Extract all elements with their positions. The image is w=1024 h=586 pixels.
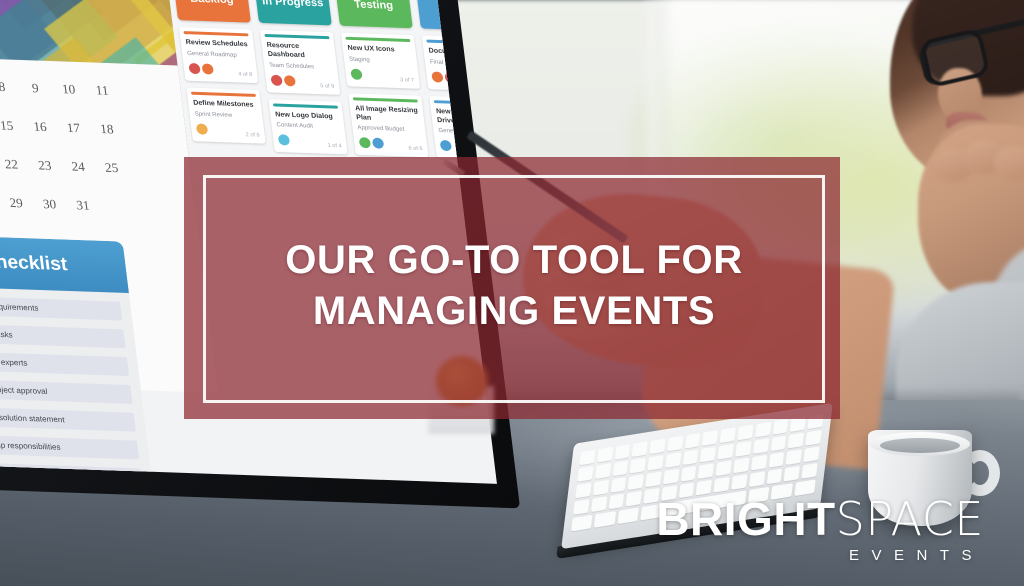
keyboard-key[interactable] (718, 444, 734, 460)
kanban-card-progress: 3 of 7 (400, 77, 415, 83)
calendar-day-cell[interactable]: 10 (53, 78, 84, 101)
keyboard-key[interactable] (593, 480, 609, 496)
kanban-card-title: New Logo Dialog (275, 111, 339, 122)
keyboard-key[interactable] (628, 474, 644, 490)
kanban-card-stripe (345, 37, 410, 42)
kanban-card-progress: 1 of 4 (327, 143, 342, 149)
calendar-week-row: 567891011 (0, 72, 182, 104)
kanban-card-subtitle: Team Schedules (269, 62, 332, 70)
calendar-day-cell[interactable]: 24 (63, 155, 94, 178)
kanban-card-stripe (264, 34, 329, 39)
logo-subtitle: EVENTS (656, 547, 984, 564)
avatar (350, 68, 362, 79)
kanban-card[interactable]: New UX IconsStaging3 of 7 (341, 33, 420, 89)
keyboard-key[interactable] (683, 449, 699, 465)
keyboard-key[interactable] (612, 461, 628, 477)
keyboard-key[interactable] (737, 425, 753, 441)
headline-line-1: OUR GO-TO TOOL FOR (203, 235, 825, 286)
keyboard-key[interactable] (645, 471, 661, 487)
kanban-card[interactable]: All Image Resizing PlanApproved Budget6 … (348, 93, 428, 158)
avatar (196, 123, 208, 134)
keyboard-key[interactable] (784, 466, 800, 482)
keyboard-key[interactable] (766, 469, 782, 485)
kanban-card-title: Define Milestones (193, 99, 257, 110)
keyboard-key[interactable] (649, 438, 665, 454)
kanban-card-progress: 2 of 6 (245, 132, 260, 138)
avatar (201, 63, 213, 74)
keyboard-key[interactable] (731, 474, 747, 490)
checklist-item-label: Gather requirements (0, 301, 39, 313)
kanban-card-progress: 4 of 8 (238, 71, 253, 77)
keyboard-key[interactable] (594, 511, 616, 528)
keyboard-key[interactable] (805, 430, 821, 446)
brand-logo: BRIGHTSPACE EVENTS (656, 496, 984, 564)
kanban-card-subtitle: Sprint Review (194, 111, 257, 119)
logo-bright-text: BRIGHT (656, 493, 835, 545)
calendar-day-cell[interactable]: 29 (1, 192, 32, 215)
keyboard-key[interactable] (632, 441, 648, 457)
kanban-card-stripe (183, 31, 248, 36)
keyboard-key[interactable] (608, 494, 624, 510)
keyboard-key[interactable] (720, 427, 736, 443)
keyboard-key[interactable] (614, 444, 630, 460)
keyboard-key[interactable] (681, 466, 697, 482)
keyboard-key[interactable] (597, 447, 613, 463)
keyboard-key[interactable] (788, 433, 804, 449)
keyboard-key[interactable] (803, 446, 819, 462)
kanban-card-subtitle: Content Audit (276, 123, 339, 131)
kanban-card-subtitle: Staging (349, 56, 412, 64)
checklist-item-label: Get project approval (0, 385, 48, 396)
calendar-day-cell[interactable]: 31 (67, 194, 98, 217)
keyboard-key[interactable] (665, 452, 681, 468)
keyboard-key[interactable] (630, 458, 646, 474)
checklist-item-label: Set-up responsibilities (0, 440, 61, 452)
calendar-week-row: 19202122232425 (0, 149, 192, 181)
keyboard-key[interactable] (770, 435, 786, 451)
kanban-column-header[interactable]: In Progress (254, 0, 332, 25)
keyboard-key[interactable] (755, 422, 771, 438)
checklist-item-label: Write solution statement (0, 412, 65, 424)
keyboard-key[interactable] (698, 463, 714, 479)
kanban-card[interactable]: New Logo DialogContent Audit1 of 4 (268, 99, 347, 155)
calendar-day-cell[interactable]: 11 (87, 79, 118, 102)
headline-line-2: MANAGING EVENTS (203, 286, 825, 337)
kanban-card[interactable]: Resource DashboardTeam Schedules5 of 9 (260, 30, 340, 95)
checklist-item[interactable]: Set-up responsibilities (0, 434, 139, 459)
kanban-card-subtitle: Approved Budget (357, 125, 420, 133)
keyboard-key[interactable] (716, 460, 732, 476)
keyboard-key[interactable] (702, 430, 718, 446)
avatar (188, 63, 200, 74)
calendar-day-cell[interactable]: 22 (0, 153, 27, 176)
keyboard-key[interactable] (626, 491, 642, 507)
checklist-item[interactable]: Write solution statement (0, 406, 136, 431)
keyboard-key[interactable] (663, 469, 679, 485)
calendar-day-cell[interactable]: 17 (58, 117, 89, 140)
keyboard-key[interactable] (749, 471, 765, 487)
checklist-item-label: Consult experts (0, 357, 28, 368)
kanban-column-header[interactable]: Testing (335, 0, 413, 28)
keyboard-key[interactable] (753, 438, 769, 454)
kanban-card-subtitle: General Roadmap (187, 51, 250, 59)
keyboard-key[interactable] (571, 515, 593, 532)
kanban-card[interactable]: Review SchedulesGeneral Roadmap4 of 8 (179, 27, 258, 83)
calendar-day-cell[interactable]: 23 (29, 154, 60, 177)
cup-interior (880, 438, 960, 453)
kanban-card[interactable]: Define MilestonesSprint Review2 of 6 (186, 87, 265, 143)
keyboard-key[interactable] (573, 499, 589, 515)
keyboard-key[interactable] (577, 466, 593, 482)
checklist-item[interactable]: Get project approval (0, 379, 132, 404)
keyboard-key[interactable] (667, 436, 683, 452)
calendar-day-cell[interactable]: 18 (91, 118, 122, 141)
kanban-column: In ProgressResource DashboardTeam Schedu… (254, 0, 348, 155)
avatar (440, 140, 452, 151)
kanban-card-stripe (353, 97, 418, 102)
keyboard-key[interactable] (714, 477, 730, 493)
avatar (359, 137, 371, 148)
page-title: OUR GO-TO TOOL FOR MANAGING EVENTS (203, 235, 825, 337)
kanban-column: BacklogReview SchedulesGeneral Roadmap4 … (173, 0, 266, 143)
logo-wordmark: BRIGHTSPACE (656, 496, 984, 542)
keyboard-key[interactable] (579, 450, 595, 466)
keyboard-key[interactable] (768, 452, 784, 468)
calendar-week-row: 12131415161718 (0, 110, 187, 142)
kanban-column: TestingNew UX IconsStaging3 of 7All Imag… (335, 0, 429, 158)
avatar (270, 74, 282, 85)
calendar-day-cell[interactable] (101, 195, 132, 218)
calendar-day-cell[interactable]: 25 (96, 157, 127, 180)
avatar (278, 134, 290, 145)
keyboard-key[interactable] (751, 455, 767, 471)
keyboard-key[interactable] (735, 441, 751, 457)
keyboard-key[interactable] (575, 483, 591, 499)
kanban-card-progress: 5 of 9 (320, 83, 335, 89)
keyboard-key[interactable] (617, 507, 639, 524)
keyboard-key[interactable] (786, 449, 802, 465)
calendar-day-cell[interactable]: 16 (25, 116, 56, 139)
logo-space-text: SPACE (836, 492, 984, 546)
kanban-card-stripe (273, 103, 338, 108)
kanban-column-header[interactable]: Backlog (173, 0, 251, 23)
checklist-item-label: Identify risks (0, 329, 13, 340)
keyboard-key[interactable] (772, 419, 788, 435)
keyboard-key[interactable] (610, 477, 626, 493)
keyboard-key[interactable] (733, 458, 749, 474)
checklist-item[interactable]: Identify risks (0, 323, 126, 348)
checklist-title: Checklist (0, 234, 129, 293)
calendar-day-cell[interactable]: 30 (34, 193, 65, 216)
keyboard-key[interactable] (595, 463, 611, 479)
kanban-card-title: New UX Icons (347, 45, 411, 56)
checklist-item[interactable]: Gather requirements (0, 295, 122, 320)
keyboard-key[interactable] (801, 463, 817, 479)
testimonial-banner: 5678910111213141516171819202122232425262… (0, 0, 1024, 586)
keyboard-key[interactable] (685, 433, 701, 449)
calendar-week-row: 262728293031 (0, 188, 197, 220)
kanban-card-progress: 6 of 6 (408, 146, 423, 152)
keyboard-key[interactable] (647, 455, 663, 471)
keyboard-key[interactable] (700, 447, 716, 463)
kanban-card-title: Review Schedules (185, 39, 249, 50)
calendar-day-cell[interactable]: 15 (0, 114, 22, 137)
checklist-item[interactable]: Consult experts (0, 351, 129, 376)
calendar-grid: 5678910111213141516171819202122232425262… (0, 72, 197, 221)
avatar (372, 138, 384, 149)
kanban-card-title: Resource Dashboard (266, 42, 331, 62)
keyboard-key[interactable] (591, 496, 607, 512)
calendar-day-cell[interactable]: 9 (20, 77, 51, 100)
avatar (431, 71, 443, 82)
kanban-card-title: All Image Resizing Plan (355, 105, 420, 125)
kanban-card-stripe (191, 91, 256, 96)
calendar-day-cell[interactable]: 8 (0, 76, 17, 99)
avatar (283, 75, 295, 86)
